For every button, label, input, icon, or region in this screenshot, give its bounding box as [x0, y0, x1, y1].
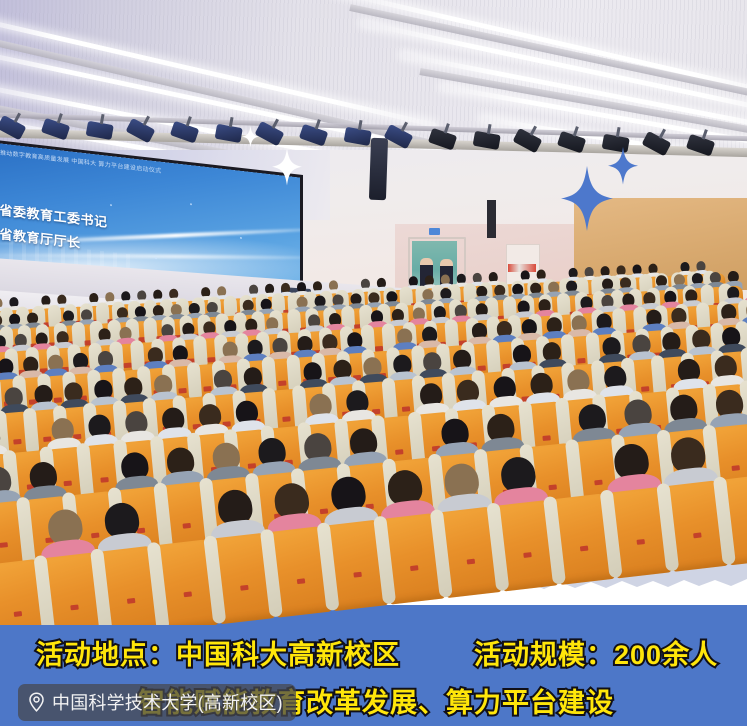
audience-seating — [0, 300, 747, 625]
event-place-text: 活动地点：中国科大高新校区 — [36, 633, 400, 672]
exit-sign-icon — [429, 228, 440, 235]
location-tag-label: 中国科学技术大学(高新校区) — [52, 689, 283, 715]
auditorium-seat — [720, 473, 747, 566]
wall-black-panel — [487, 200, 496, 238]
hanging-line-array-speaker — [369, 138, 388, 201]
event-poster: 推动数字教育高质量发展 中国科大 算力平台建设启动仪式 徽省委教育工委书记 徽省… — [0, 0, 747, 726]
sparkle-white-small-icon — [242, 126, 259, 147]
auditorium-photo: 推动数字教育高质量发展 中国科大 算力平台建设启动仪式 徽省委教育工委书记 徽省… — [0, 0, 747, 625]
sparkle-blue-large-icon — [561, 166, 613, 231]
sparkle-white-large-icon — [272, 148, 302, 186]
location-tag[interactable]: 中国科学技术大学(高新校区) — [18, 684, 296, 721]
map-pin-icon — [28, 692, 45, 712]
event-scale-text: 活动规模：200余人 — [474, 633, 718, 672]
